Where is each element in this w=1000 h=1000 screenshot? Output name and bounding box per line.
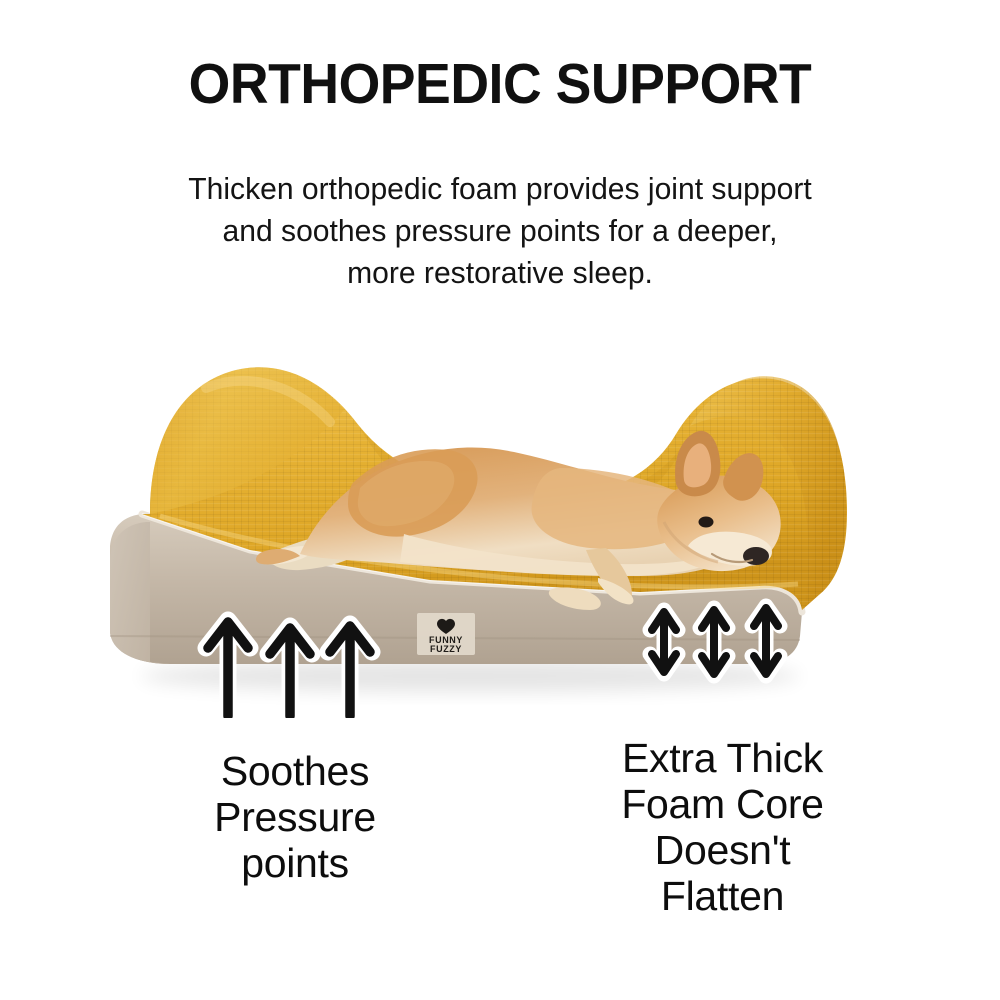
subtitle-line-3: more restorative sleep. — [64, 252, 937, 294]
product-illustration: FUNNY FUZZY — [0, 318, 1000, 718]
caption-extra-thick-foam-core: Extra Thick Foam Core Doesn't Flatten — [565, 735, 880, 919]
caption-right-line-3: Doesn't — [565, 827, 880, 873]
left-arrow-group — [206, 620, 372, 716]
caption-right-line-2: Foam Core — [565, 781, 880, 827]
subtitle-line-2: and soothes pressure points for a deeper… — [64, 210, 937, 252]
caption-left-line-1: Soothes — [150, 748, 440, 794]
brand-label: FUNNY FUZZY — [417, 613, 475, 655]
subtitle-block: Thicken orthopedic foam provides joint s… — [64, 168, 937, 294]
promo-page: ORTHOPEDIC SUPPORT Thicken orthopedic fo… — [0, 0, 1000, 1000]
dog-eye — [699, 517, 714, 528]
page-title: ORTHOPEDIC SUPPORT — [30, 54, 970, 114]
caption-right-line-1: Extra Thick — [565, 735, 880, 781]
caption-right-line-4: Flatten — [565, 873, 880, 919]
caption-left-line-3: points — [150, 840, 440, 886]
right-arrow-group — [650, 606, 780, 676]
brand-name-line-2: FUZZY — [430, 644, 462, 654]
caption-soothes-pressure-points: Soothes Pressure points — [150, 748, 440, 886]
subtitle-line-1: Thicken orthopedic foam provides joint s… — [64, 168, 937, 210]
caption-left-line-2: Pressure — [150, 794, 440, 840]
